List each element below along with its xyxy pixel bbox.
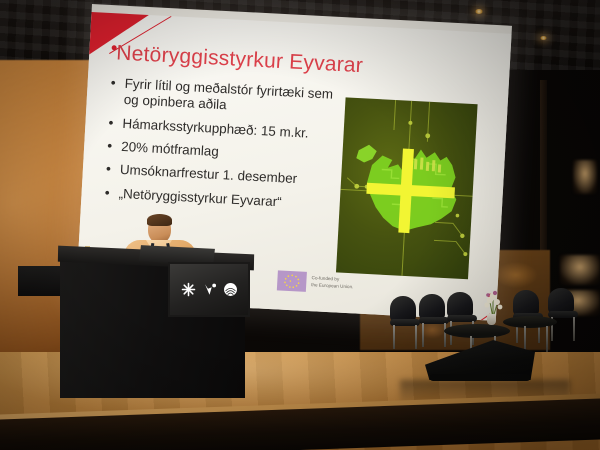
eu-stars	[277, 270, 307, 292]
round-table	[503, 316, 557, 328]
snowflake-icon	[181, 282, 196, 297]
slide-title: Netöryggisstyrkur Eyvarar	[116, 41, 364, 78]
wall-lamp	[573, 160, 597, 194]
european-union-flag	[277, 270, 307, 292]
round-table	[444, 324, 510, 338]
chair-leg	[415, 325, 417, 349]
table-leg	[524, 326, 526, 352]
iceland-circuit-map-graphic	[336, 97, 478, 279]
eu-funding-logo: Co-funded by the European Union.	[277, 270, 354, 294]
flower-vase	[487, 314, 496, 325]
list-item: Fyrir lítil og meðalstór fyrirtæki sem o…	[108, 75, 345, 120]
wall-lamp	[560, 255, 600, 285]
ceiling-spotlight	[475, 9, 483, 14]
chair-leg	[393, 325, 395, 349]
list-item: „Netöryggisstyrkur Eyvarar“	[103, 185, 339, 214]
checkmark-dot-icon	[202, 282, 217, 297]
stage-monitor-base	[430, 374, 530, 381]
ceiling-spotlight	[540, 36, 547, 40]
slide-bullet-list: Fyrir lítil og meðalstór fyrirtæki sem o…	[103, 75, 345, 220]
iceland-circuit-map	[336, 97, 478, 279]
circular-emblem-icon	[223, 282, 238, 297]
table-leg	[546, 326, 548, 352]
conference-stage-photo: Netöryggisstyrkur Eyvarar Fyrir lítil og…	[0, 0, 600, 450]
chair-leg	[422, 323, 424, 347]
chair-leg	[444, 323, 446, 347]
presenter-hair	[147, 214, 172, 226]
podium-logo-panel	[168, 262, 250, 317]
eu-funding-text: Co-funded by the European Union.	[311, 276, 354, 291]
eu-funding-line2: the European Union.	[311, 282, 353, 291]
chair-leg	[573, 317, 575, 341]
